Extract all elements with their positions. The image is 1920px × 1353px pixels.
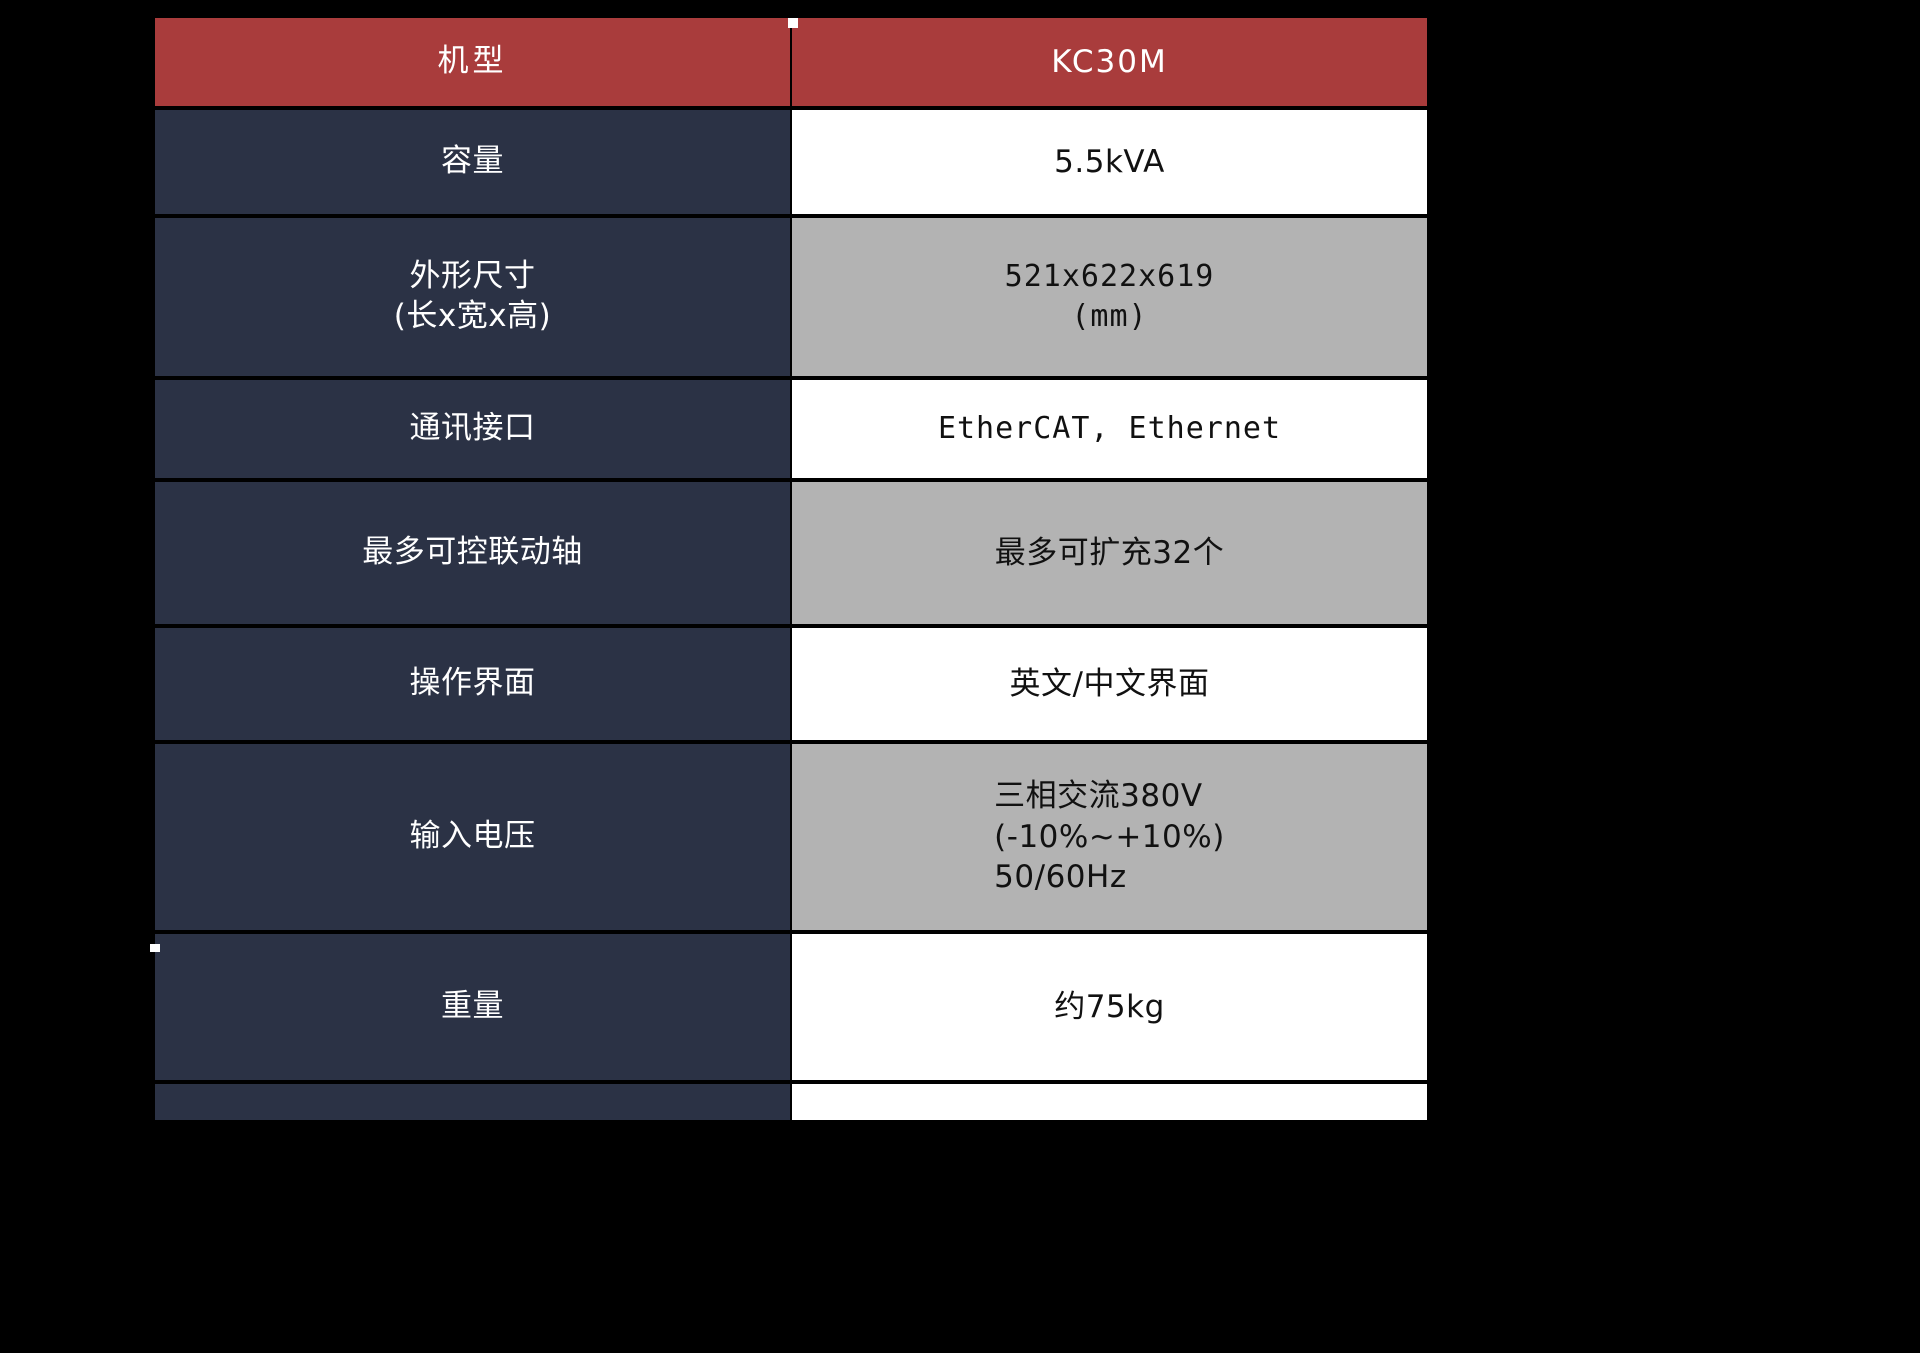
row-value-interface: 英文/中文界面	[792, 628, 1427, 740]
row-value-partial-next	[792, 1084, 1427, 1120]
row-divider-tick-left	[150, 944, 160, 952]
row-label-axes: 最多可控联动轴	[155, 482, 790, 624]
row-value-dimensions-line2: (mm)	[1005, 297, 1215, 337]
header-cell-model-value: KC30M	[792, 18, 1427, 106]
table-header-row: 机型 KC30M	[155, 18, 1427, 106]
row-label-dimensions-line2: (长x宽x高)	[394, 297, 551, 337]
row-label-weight: 重量	[155, 934, 790, 1080]
table-row-weight: 重量 约75kg	[155, 934, 1427, 1080]
row-label-dimensions-line1: 外形尺寸	[394, 257, 551, 297]
row-value-input-voltage: 三相交流380V (-10%~+10%) 50/60Hz	[792, 744, 1427, 930]
row-label-interface: 操作界面	[155, 628, 790, 740]
row-label-dimensions: 外形尺寸 (长x宽x高)	[155, 218, 790, 376]
row-label-capacity: 容量	[155, 110, 790, 214]
table-row-dimensions: 外形尺寸 (长x宽x高) 521x622x619 (mm)	[155, 218, 1427, 376]
row-value-dimensions-line1: 521x622x619	[1005, 257, 1215, 297]
header-cell-model-label: 机型	[155, 18, 790, 106]
slide-canvas: 机型 KC30M 容量 5.5kVA 外形尺寸 (长x宽x高) 521x622x…	[0, 0, 1920, 1353]
table-row-input-voltage: 输入电压 三相交流380V (-10%~+10%) 50/60Hz	[155, 744, 1427, 930]
row-value-input-voltage-line2: (-10%~+10%)	[994, 817, 1225, 858]
row-value-input-voltage-line1: 三相交流380V	[994, 776, 1225, 817]
row-value-axes: 最多可扩充32个	[792, 482, 1427, 624]
row-value-input-voltage-line3: 50/60Hz	[994, 857, 1225, 898]
row-value-weight: 约75kg	[792, 934, 1427, 1080]
table-row-capacity: 容量 5.5kVA	[155, 110, 1427, 214]
row-label-communication: 通讯接口	[155, 380, 790, 478]
specification-table: 机型 KC30M 容量 5.5kVA 外形尺寸 (长x宽x高) 521x622x…	[155, 18, 1427, 1120]
row-value-capacity: 5.5kVA	[792, 110, 1427, 214]
row-label-input-voltage: 输入电压	[155, 744, 790, 930]
column-divider-tick-top	[788, 18, 798, 28]
table-row-partial-next	[155, 1084, 1427, 1120]
table-row-interface: 操作界面 英文/中文界面	[155, 628, 1427, 740]
table-row-communication: 通讯接口 EtherCAT, Ethernet	[155, 380, 1427, 478]
row-label-partial-next	[155, 1084, 790, 1120]
row-value-dimensions: 521x622x619 (mm)	[792, 218, 1427, 376]
row-value-communication: EtherCAT, Ethernet	[792, 380, 1427, 478]
table-row-axes: 最多可控联动轴 最多可扩充32个	[155, 482, 1427, 624]
